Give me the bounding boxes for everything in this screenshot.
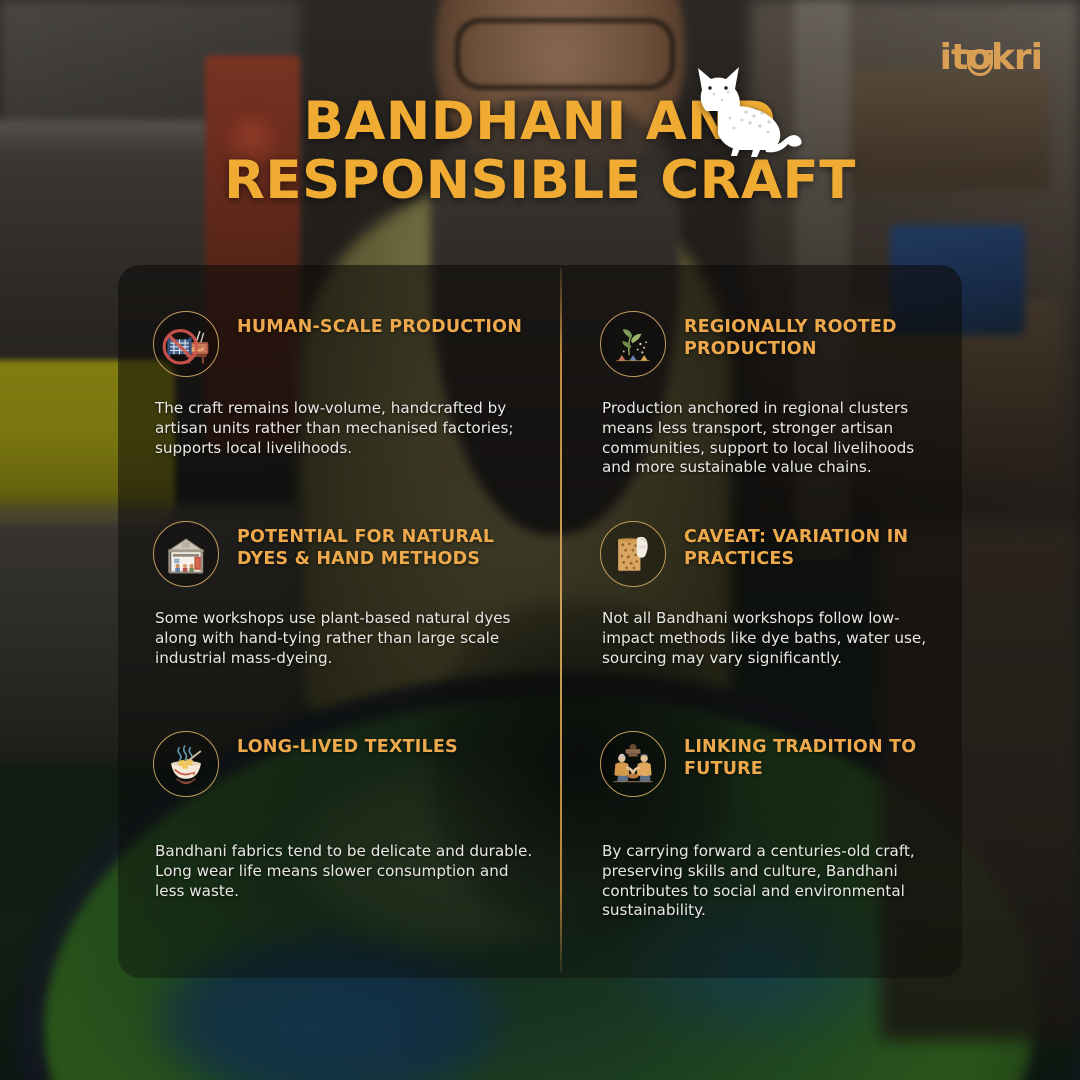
- page-title: BANDHANI AND RESPONSIBLE CRAFT: [0, 92, 1080, 211]
- card-header: POTENTIAL FOR NATURAL DYES & HAND METHOD…: [153, 521, 538, 587]
- cat-line-art-icon: [684, 56, 804, 161]
- card-regionally-rooted-production[interactable]: REGIONALLY ROOTED PRODUCTION Production …: [560, 265, 962, 475]
- card-header: HUMAN-SCALE PRODUCTION: [153, 311, 538, 377]
- card-header: LINKING TRADITION TO FUTURE: [600, 731, 942, 797]
- card-header: CAVEAT: VARIATION IN PRACTICES: [600, 521, 942, 587]
- steaming-dye-pot-icon: [153, 731, 219, 797]
- card-body: Not all Bandhani workshops follow low-im…: [602, 609, 942, 668]
- card-title: LONG-LIVED TEXTILES: [237, 731, 458, 759]
- infographic-poster: itokri BANDHANI AND RESPONSIBLE CRAFT: [0, 0, 1080, 1080]
- title-line-1: BANDHANI AND: [0, 92, 1080, 151]
- card-header: LONG-LIVED TEXTILES: [153, 731, 538, 797]
- cards-grid: HUMAN-SCALE PRODUCTION The craft remains…: [118, 265, 962, 978]
- card-header: REGIONALLY ROOTED PRODUCTION: [600, 311, 942, 377]
- card-body: Some workshops use plant-based natural d…: [155, 609, 538, 668]
- card-title: LINKING TRADITION TO FUTURE: [684, 731, 942, 780]
- card-human-scale-production[interactable]: HUMAN-SCALE PRODUCTION The craft remains…: [118, 265, 560, 475]
- card-long-lived-textiles[interactable]: LONG-LIVED TEXTILES Bandhani fabrics ten…: [118, 685, 560, 978]
- card-body: The craft remains low-volume, handcrafte…: [155, 399, 538, 458]
- card-title: HUMAN-SCALE PRODUCTION: [237, 311, 522, 339]
- title-line-2: RESPONSIBLE CRAFT: [0, 151, 1080, 210]
- two-artisans-icon: [600, 731, 666, 797]
- hand-holding-fabric-icon: [600, 521, 666, 587]
- card-linking-tradition-to-future[interactable]: LINKING TRADITION TO FUTURE By carrying …: [560, 685, 962, 978]
- brand-logo[interactable]: itokri: [940, 40, 1042, 76]
- workshop-storefront-icon: [153, 521, 219, 587]
- card-body: Bandhani fabrics tend to be delicate and…: [155, 842, 538, 901]
- card-title: POTENTIAL FOR NATURAL DYES & HAND METHOD…: [237, 521, 538, 570]
- card-title: CAVEAT: VARIATION IN PRACTICES: [684, 521, 942, 570]
- card-body: Production anchored in regional clusters…: [602, 399, 942, 478]
- card-potential-for-natural-dyes[interactable]: POTENTIAL FOR NATURAL DYES & HAND METHOD…: [118, 475, 560, 685]
- card-title: REGIONALLY ROOTED PRODUCTION: [684, 311, 942, 360]
- no-factory-machine-icon: [153, 311, 219, 377]
- seedling-plant-icon: [600, 311, 666, 377]
- brand-logo-basket-icon: [967, 50, 993, 76]
- card-body: By carrying forward a centuries-old craf…: [602, 842, 942, 921]
- card-caveat-variation-in-practices[interactable]: CAVEAT: VARIATION IN PRACTICES Not all B…: [560, 475, 962, 685]
